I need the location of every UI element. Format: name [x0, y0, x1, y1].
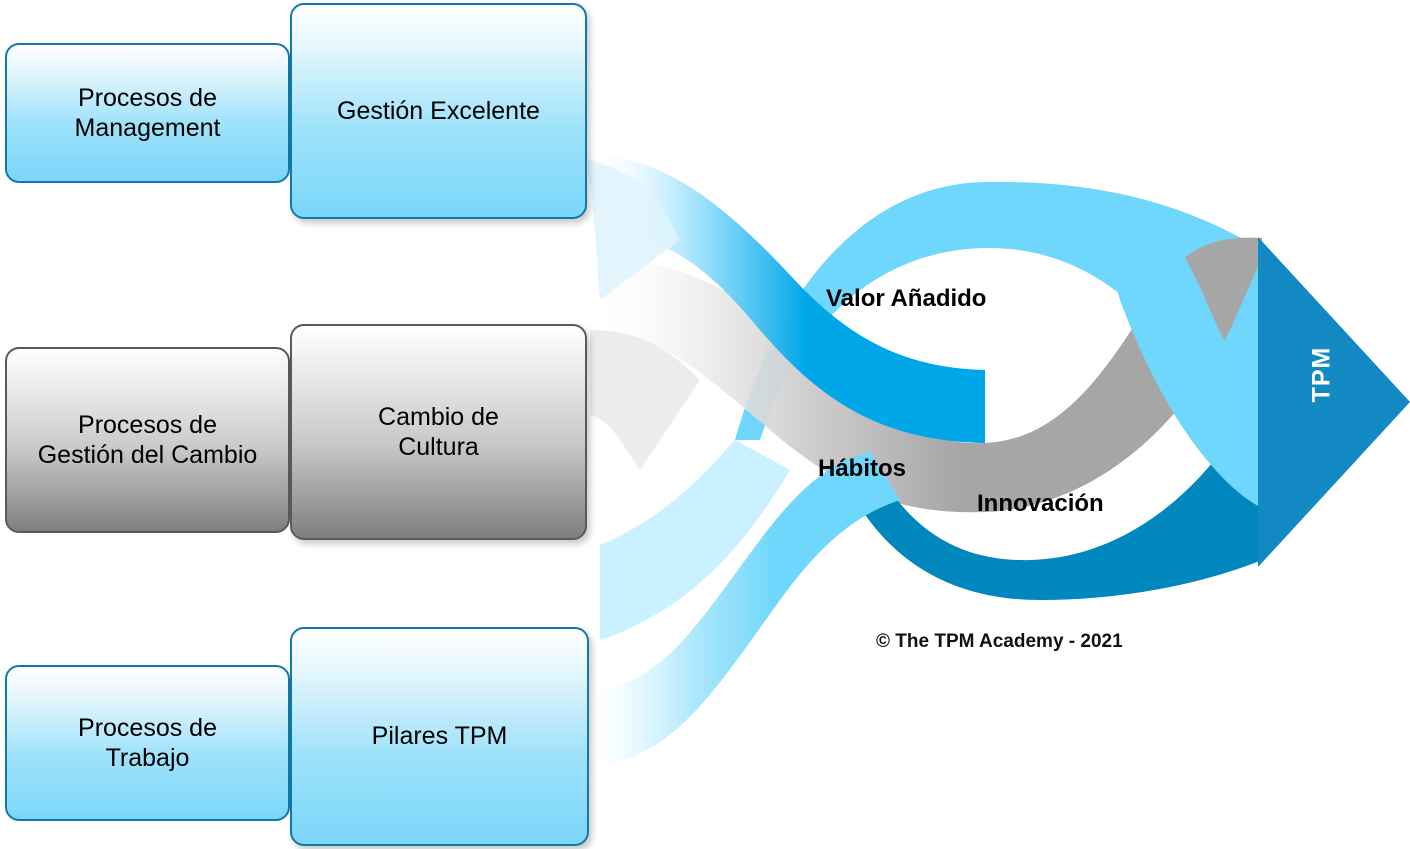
box-gestion-excelente[interactable]: Gestión Excelente [290, 3, 587, 219]
ribbon-label-valor-anadido: Valor Añadido [826, 285, 986, 313]
box-procesos-trabajo[interactable]: Procesos de Trabajo [5, 665, 290, 821]
box-procesos-gestion-cambio[interactable]: Procesos de Gestión del Cambio [5, 347, 290, 533]
diagram-canvas: Procesos de Management Gestión Excelente… [0, 0, 1410, 849]
box-cambio-de-cultura[interactable]: Cambio de Cultura [290, 324, 587, 540]
arrow-tpm-label: TPM [1308, 330, 1337, 420]
ribbon-label-innovacion: Innovación [977, 490, 1104, 518]
ribbon-label-habitos: Hábitos [818, 455, 906, 483]
copyright-text: © The TPM Academy - 2021 [876, 631, 1123, 653]
box-procesos-management[interactable]: Procesos de Management [5, 43, 290, 183]
box-pilares-tpm[interactable]: Pilares TPM [290, 627, 589, 846]
